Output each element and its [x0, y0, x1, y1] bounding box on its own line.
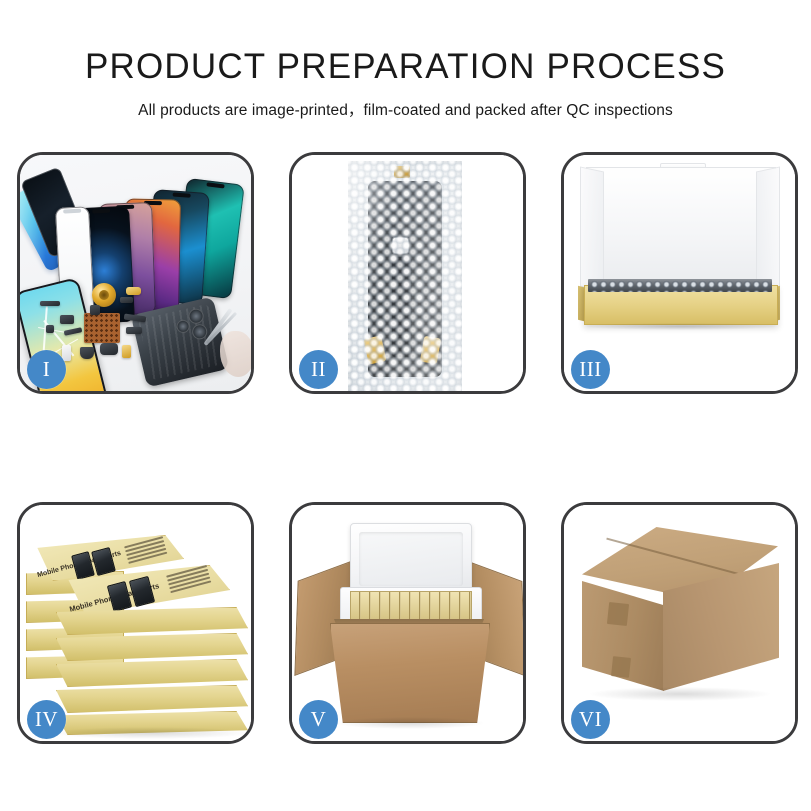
header: PRODUCT PREPARATION PROCESS All products…	[0, 0, 811, 120]
small-part-icon	[122, 345, 131, 358]
small-part-icon	[90, 305, 100, 315]
process-step-panel-3: III	[561, 152, 798, 394]
step-badge-3: III	[571, 350, 610, 389]
screw-icon	[46, 325, 54, 333]
process-step-panel-5: V	[289, 502, 526, 744]
bubble-wrap-bag-icon	[348, 161, 462, 391]
small-part-icon	[40, 301, 60, 306]
small-part-icon	[80, 347, 94, 359]
carton-tape-icon	[611, 656, 631, 678]
camera-module-icon	[100, 343, 118, 355]
box-flap-left-icon	[580, 166, 604, 291]
ic-chip-icon	[84, 313, 120, 343]
small-part-icon	[60, 315, 74, 324]
product-preparation-infographic: PRODUCT PREPARATION PROCESS All products…	[0, 0, 811, 811]
step-badge-6: VI	[571, 700, 610, 739]
page-title: PRODUCT PREPARATION PROCESS	[0, 0, 811, 86]
speaker-coil-icon	[92, 283, 116, 307]
step-badge-1: I	[27, 350, 66, 389]
small-part-icon	[120, 297, 133, 303]
small-part-icon	[126, 287, 141, 295]
page-subtitle: All products are image-printed，film-coat…	[0, 86, 811, 120]
step-badge-5: V	[299, 700, 338, 739]
step-badge-4: IV	[27, 700, 66, 739]
step-badge-2: II	[299, 350, 338, 389]
small-part-icon	[126, 327, 142, 334]
process-step-grid: 08:08	[17, 152, 798, 744]
gold-box-stack-icon: Mobile Phone Spare Parts Mobile Phone Sp…	[26, 521, 248, 731]
sim-tray-icon	[62, 345, 71, 361]
carton-body-icon	[330, 623, 490, 723]
foam-box-lid-icon	[350, 523, 472, 597]
process-step-panel-1: 08:08	[17, 152, 254, 394]
process-step-panel-2: II	[289, 152, 526, 394]
box-flap-right-icon	[756, 166, 780, 291]
carton-tape-icon	[607, 602, 629, 626]
box-lid-icon	[586, 167, 776, 297]
process-step-panel-6: VI	[561, 502, 798, 744]
process-step-panel-4: Mobile Phone Spare Parts Mobile Phone Sp…	[17, 502, 254, 744]
